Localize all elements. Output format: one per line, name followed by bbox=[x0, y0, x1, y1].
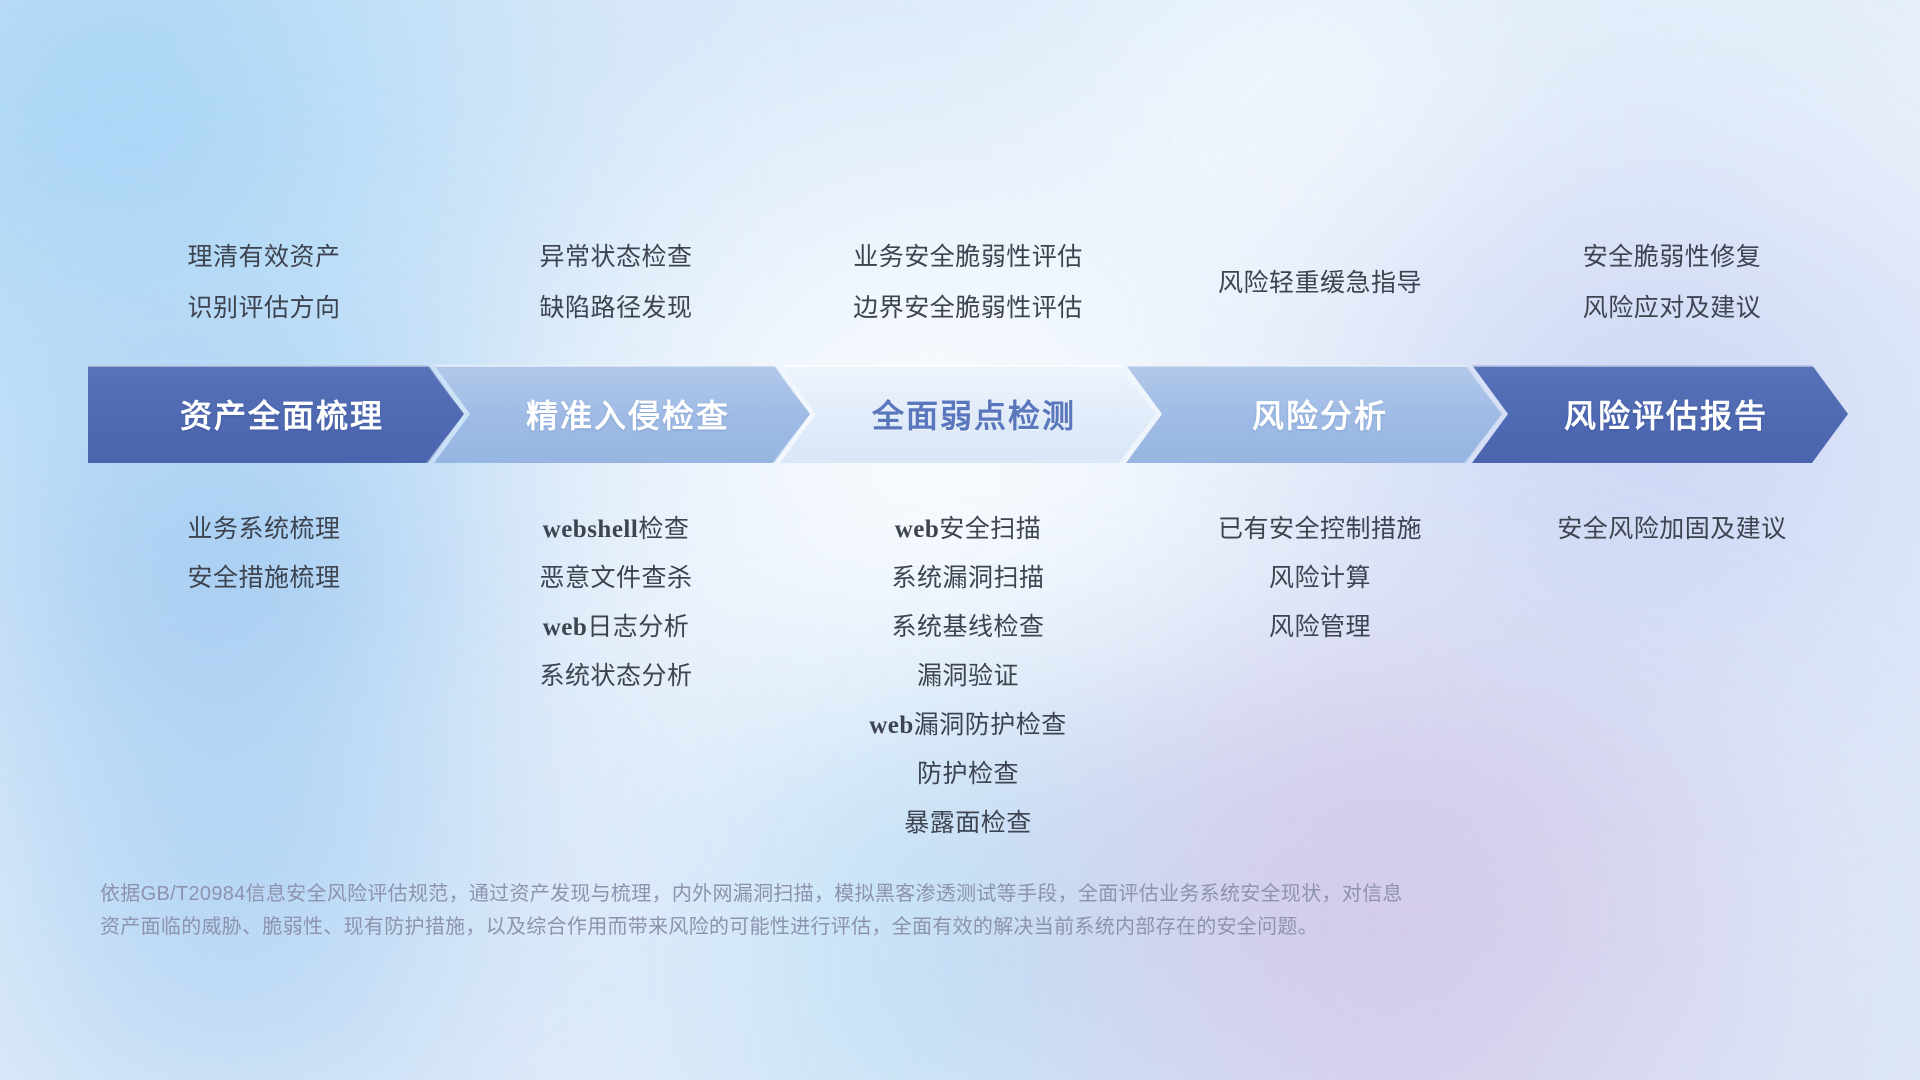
footer-note-line-1: 依据GB/T20984信息安全风险评估规范，通过资产发现与梳理，内外网漏洞扫描，… bbox=[100, 878, 1700, 911]
output-label: 系统基线检查 bbox=[792, 603, 1144, 652]
input-label: 缺陷路径发现 bbox=[440, 283, 792, 334]
chevron-stage-asset-inventory[interactable]: 资产全面梳理 bbox=[88, 365, 464, 463]
chevron-highlight-line bbox=[1472, 365, 1848, 367]
output-label: 安全措施梳理 bbox=[88, 554, 440, 603]
input-label: 风险应对及建议 bbox=[1496, 283, 1848, 334]
output-label-latin: web bbox=[895, 516, 940, 543]
output-label-cjk: 安全扫描 bbox=[939, 515, 1041, 543]
footer-note: 依据GB/T20984信息安全风险评估规范，通过资产发现与梳理，内外网漏洞扫描，… bbox=[100, 878, 1700, 944]
output-label: 业务系统梳理 bbox=[88, 505, 440, 554]
input-label: 业务安全脆弱性评估 bbox=[792, 232, 1144, 283]
output-label: 漏洞验证 bbox=[792, 652, 1144, 701]
stage-inputs-asset-inventory: 理清有效资产识别评估方向 bbox=[88, 232, 440, 334]
stage-inputs-risk-analysis: 风险轻重缓急指导 bbox=[1144, 232, 1496, 334]
chevron-label-asset-inventory: 资产全面梳理 bbox=[168, 391, 384, 437]
chevron-stage-risk-analysis[interactable]: 风险分析 bbox=[1126, 365, 1502, 463]
chevron-label-risk-report: 风险评估报告 bbox=[1552, 391, 1768, 437]
chevron-label-risk-analysis: 风险分析 bbox=[1240, 391, 1388, 437]
input-label: 安全脆弱性修复 bbox=[1496, 232, 1848, 283]
stage-outputs-row: 业务系统梳理安全措施梳理webshell检查恶意文件查杀web日志分析系统状态分… bbox=[88, 505, 1848, 848]
output-label: web漏洞防护检查 bbox=[792, 701, 1144, 750]
chevron-label-intrusion-check: 精准入侵检查 bbox=[514, 391, 730, 437]
stage-inputs-row: 理清有效资产识别评估方向异常状态检查缺陷路径发现业务安全脆弱性评估边界安全脆弱性… bbox=[88, 232, 1848, 334]
stage-inputs-intrusion-check: 异常状态检查缺陷路径发现 bbox=[440, 232, 792, 334]
output-label-cjk: 日志分析 bbox=[587, 613, 689, 641]
output-label: 已有安全控制措施 bbox=[1144, 505, 1496, 554]
stage-inputs-risk-report: 安全脆弱性修复风险应对及建议 bbox=[1496, 232, 1848, 334]
input-label: 识别评估方向 bbox=[88, 283, 440, 334]
chevron-highlight-line bbox=[88, 365, 464, 367]
chevron-highlight-line bbox=[780, 365, 1156, 367]
output-label: 暴露面检查 bbox=[792, 799, 1144, 848]
chevron-stage-intrusion-check[interactable]: 精准入侵检查 bbox=[434, 365, 810, 463]
chevron-highlight-line bbox=[434, 365, 810, 367]
output-label: web日志分析 bbox=[440, 603, 792, 652]
input-label: 风险轻重缓急指导 bbox=[1144, 258, 1496, 309]
input-label: 理清有效资产 bbox=[88, 232, 440, 283]
stage-outputs-intrusion-check: webshell检查恶意文件查杀web日志分析系统状态分析 bbox=[440, 505, 792, 848]
input-label: 边界安全脆弱性评估 bbox=[792, 283, 1144, 334]
stage-outputs-weakness-detection: web安全扫描系统漏洞扫描系统基线检查漏洞验证web漏洞防护检查防护检查暴露面检… bbox=[792, 505, 1144, 848]
stage-outputs-risk-analysis: 已有安全控制措施风险计算风险管理 bbox=[1144, 505, 1496, 848]
stage-outputs-risk-report: 安全风险加固及建议 bbox=[1496, 505, 1848, 848]
output-label: 系统状态分析 bbox=[440, 652, 792, 701]
output-label: 安全风险加固及建议 bbox=[1496, 505, 1848, 554]
output-label: 风险管理 bbox=[1144, 603, 1496, 652]
output-label: 防护检查 bbox=[792, 750, 1144, 799]
output-label-cjk: 检查 bbox=[638, 515, 689, 543]
chevron-stage-weakness-detection[interactable]: 全面弱点检测 bbox=[780, 365, 1156, 463]
output-label-latin: webshell bbox=[543, 516, 639, 543]
output-label: 系统漏洞扫描 bbox=[792, 554, 1144, 603]
output-label-cjk: 漏洞防护检查 bbox=[914, 711, 1067, 739]
chevron-highlight-line bbox=[1126, 365, 1502, 367]
stage-outputs-asset-inventory: 业务系统梳理安全措施梳理 bbox=[88, 505, 440, 848]
footer-note-line-2: 资产面临的威胁、脆弱性、现有防护措施，以及综合作用而带来风险的可能性进行评估，全… bbox=[100, 911, 1700, 944]
output-label-latin: web bbox=[543, 614, 588, 641]
stage-inputs-weakness-detection: 业务安全脆弱性评估边界安全脆弱性评估 bbox=[792, 232, 1144, 334]
output-label: web安全扫描 bbox=[792, 505, 1144, 554]
output-label: 风险计算 bbox=[1144, 554, 1496, 603]
chevron-stage-risk-report[interactable]: 风险评估报告 bbox=[1472, 365, 1848, 463]
process-chevron-banner: 资产全面梳理精准入侵检查全面弱点检测风险分析风险评估报告 bbox=[88, 365, 1848, 463]
output-label-latin: web bbox=[869, 712, 914, 739]
output-label: 恶意文件查杀 bbox=[440, 554, 792, 603]
diagram-content: 理清有效资产识别评估方向异常状态检查缺陷路径发现业务安全脆弱性评估边界安全脆弱性… bbox=[0, 0, 1920, 1080]
chevron-label-weakness-detection: 全面弱点检测 bbox=[860, 391, 1076, 437]
output-label: webshell检查 bbox=[440, 505, 792, 554]
input-label: 异常状态检查 bbox=[440, 232, 792, 283]
